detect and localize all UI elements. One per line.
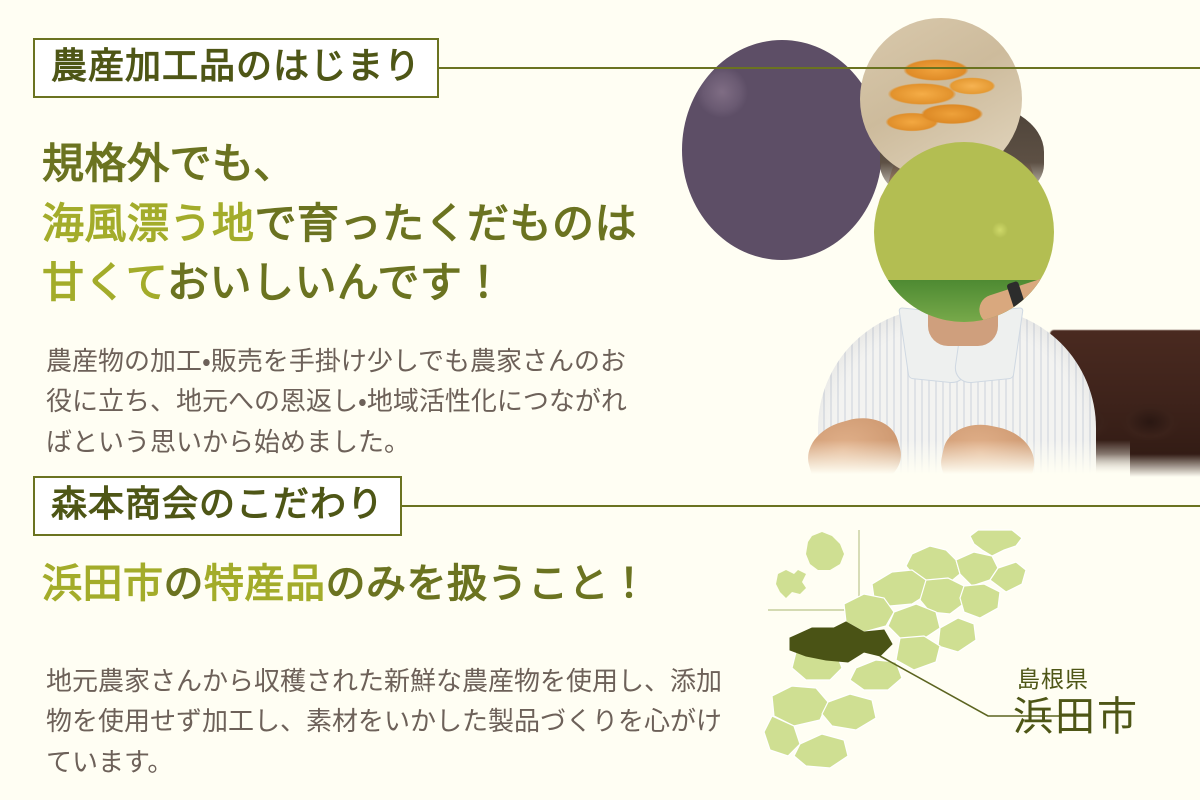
headline-2-seg-3: 特産品 xyxy=(204,561,326,607)
promo-page: 農産加工品のはじまり 規格外でも、 海風漂う地で育ったくだものは 甘くておいしい… xyxy=(0,0,1200,800)
headline-1-seg-5: おいしいんです！ xyxy=(167,258,505,307)
shimane-prefecture xyxy=(764,530,1026,768)
bottom-fade xyxy=(780,440,1130,480)
heading-box-1: 農産加工品のはじまり xyxy=(33,38,439,98)
city-label: 浜田市 xyxy=(1013,695,1139,740)
persimmon-tree-photo xyxy=(874,142,1054,322)
headline-1-seg-3: で育ったくだものは xyxy=(255,199,638,248)
prefecture-label: 島根県 xyxy=(1013,668,1139,693)
oki-dozen-islands xyxy=(776,570,806,598)
map-location-label: 島根県 浜田市 xyxy=(1013,668,1139,740)
okuizumo-town xyxy=(960,584,1000,618)
headline-1-line-2: 海風漂う地で育ったくだものは xyxy=(42,194,637,254)
heading-box-2: 森本商会のこだわり xyxy=(33,476,402,536)
headline-1-seg-4: 甘くて xyxy=(42,258,167,307)
headline-1: 規格外でも、 海風漂う地で育ったくだものは 甘くておいしいんです！ xyxy=(42,134,637,313)
body-paragraph-2: 地元農家さんから収穫された新鮮な農産物を使用し、添加物を使用せず加工し、素材をい… xyxy=(46,662,736,783)
heading-label-1: 農産加工品のはじまり xyxy=(51,47,421,86)
heading-rule-2 xyxy=(400,505,1200,507)
section-heading-2: 森本商会のこだわり xyxy=(33,476,1200,536)
kawamoto-town xyxy=(896,636,940,670)
headline-2-seg-4: のみを扱うこと！ xyxy=(326,561,650,607)
heading-rule-1 xyxy=(437,67,1200,69)
oki-inset-box xyxy=(768,530,859,610)
headline-1-line-1: 規格外でも、 xyxy=(42,134,637,194)
matsue-north xyxy=(970,530,1022,556)
heading-label-2: 森本商会のこだわり xyxy=(51,485,384,524)
shimane-map xyxy=(760,528,1200,800)
oki-dogo-island xyxy=(806,532,844,570)
map-svg xyxy=(760,528,1200,800)
headline-1-seg-1: 規格外でも、 xyxy=(42,139,296,188)
headline-2-seg-1: 浜田市 xyxy=(42,561,164,607)
section-heading-1: 農産加工品のはじまり xyxy=(33,38,1200,98)
yoshika-town xyxy=(794,734,848,768)
yoshida-area xyxy=(938,618,976,652)
headline-2: 浜田市の特産品のみを扱うこと！ xyxy=(42,560,650,608)
misato-town xyxy=(822,694,876,730)
body-paragraph-1: 農産物の加工・販売を手掛け少しでも農家さんのお役に立ち、地元への恩返し・地域活性… xyxy=(46,342,646,463)
headline-2-seg-2: の xyxy=(164,561,205,607)
headline-1-seg-2: 海風漂う地 xyxy=(42,199,255,248)
headline-1-line-3: 甘くておいしいんです！ xyxy=(42,253,637,313)
